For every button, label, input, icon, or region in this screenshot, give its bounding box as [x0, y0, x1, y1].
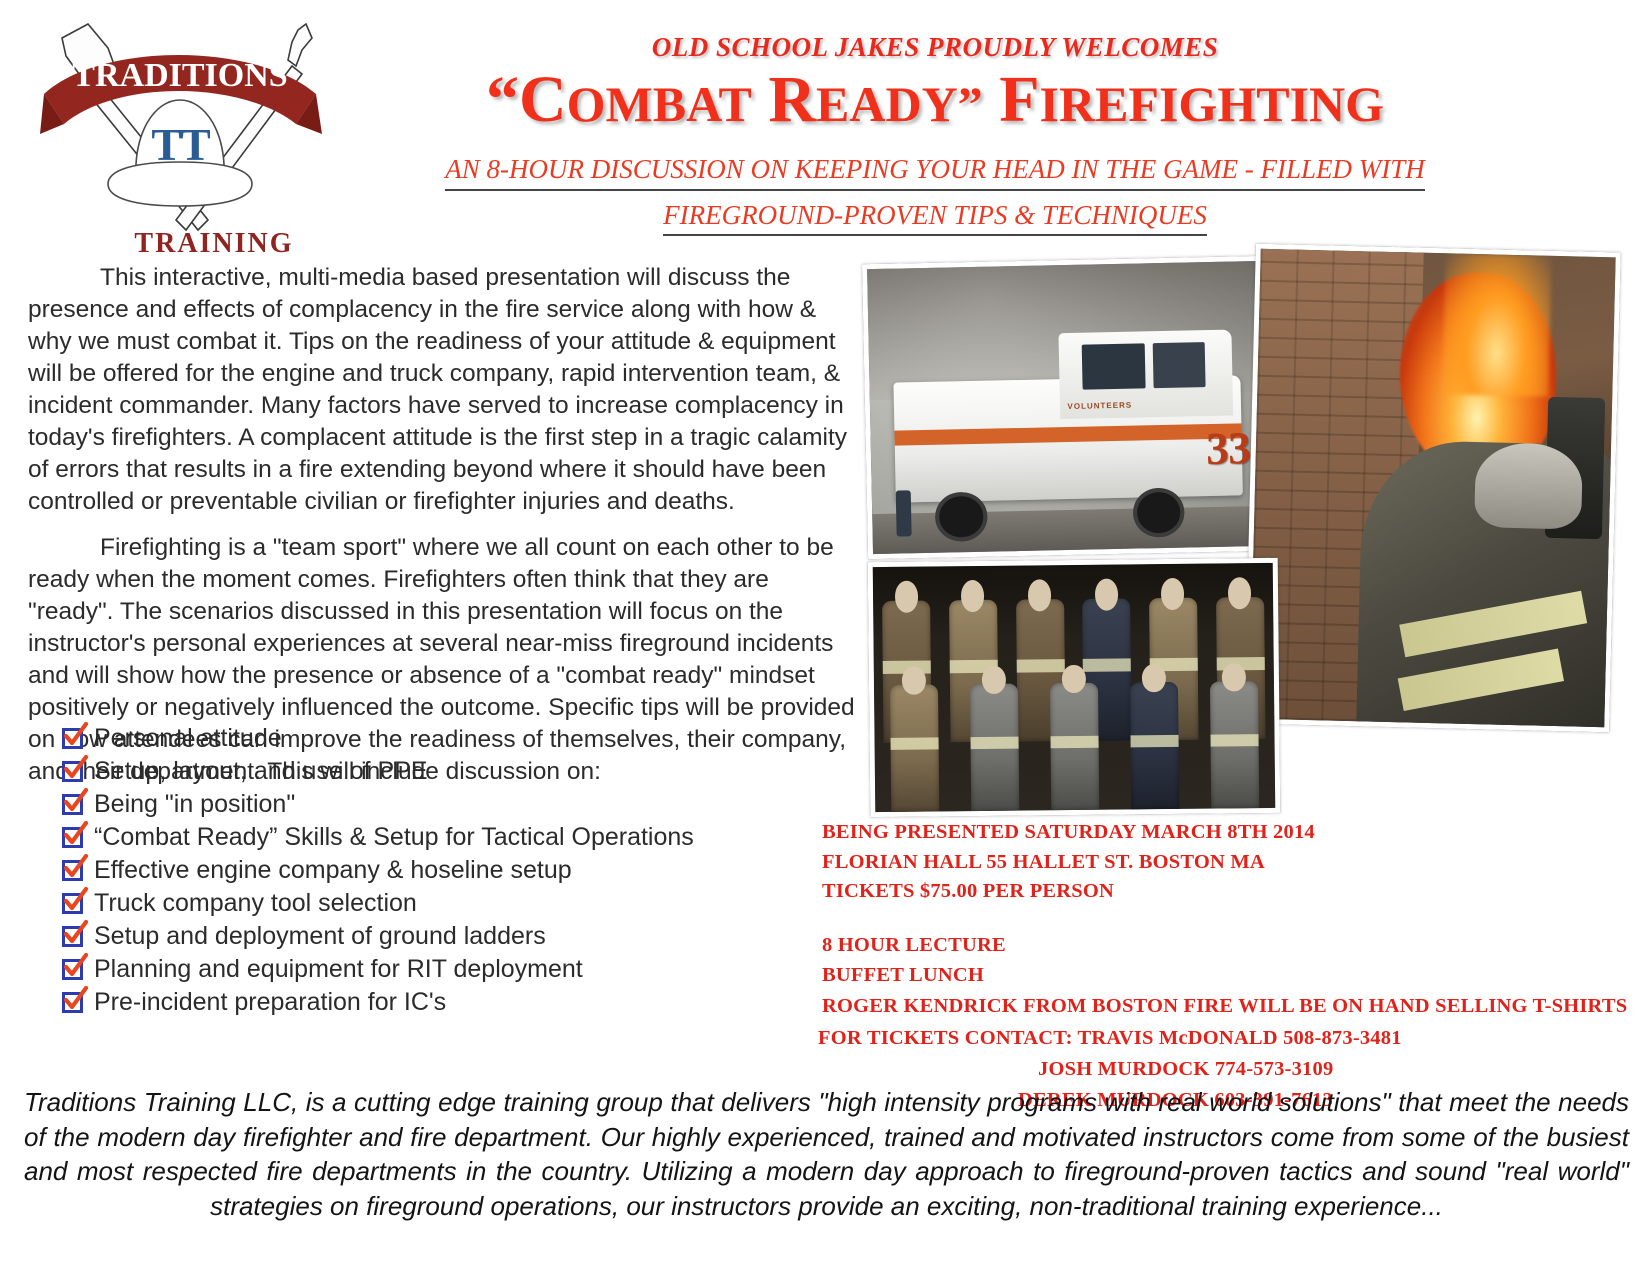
title-space-1 — [752, 63, 769, 136]
checkbox-checked-icon — [62, 926, 83, 947]
description-paragraph-1: This interactive, multi-media based pres… — [28, 262, 858, 518]
topics-checklist: Personal attitudeSetup, layout, and use … — [62, 722, 882, 1019]
checkbox-checked-icon — [62, 992, 83, 1013]
checklist-item: Personal attitude — [62, 722, 882, 755]
fire-engine-photo: VOLUNTEERS 33 — [862, 256, 1273, 559]
checkbox-checked-icon — [62, 761, 83, 782]
lecture-tshirt-line: ROGER KENDRICK FROM BOSTON FIRE WILL BE … — [822, 991, 1642, 1021]
firefighter-crew-group-photo — [868, 558, 1281, 817]
title-seg-1: “C — [486, 63, 567, 136]
crew-member — [1210, 681, 1259, 809]
firefighter-silhouette — [895, 491, 912, 537]
firefighter-helmet — [1474, 442, 1583, 529]
checkbox-checked-icon — [62, 728, 83, 749]
checklist-item-label: Effective engine company & hoseline setu… — [94, 858, 572, 883]
checkbox-checked-icon — [62, 893, 83, 914]
checklist-item: Pre-incident preparation for IC's — [62, 986, 882, 1019]
checklist-item: Setup, layout, and use of PPE — [62, 755, 882, 788]
event-date-line: BEING PRESENTED SATURDAY MARCH 8TH 2014 — [822, 818, 1622, 848]
checklist-item-label: Pre-incident preparation for IC's — [94, 990, 446, 1015]
header-subtitle-line-1: AN 8-HOUR DISCUSSION ON KEEPING YOUR HEA… — [330, 145, 1540, 191]
cab-window-front — [1082, 343, 1146, 390]
header-subtitle-line-2: FIREGROUND-PROVEN TIPS & TECHNIQUES — [330, 191, 1540, 237]
flyer-header: OLD SCHOOL JAKES PROUDLY WELCOMES “COMBA… — [330, 32, 1540, 236]
crew-member — [1050, 682, 1099, 810]
checklist-item-label: Being "in position" — [94, 792, 295, 817]
checklist-item-label: Planning and equipment for RIT deploymen… — [94, 957, 583, 982]
traditions-training-logo: TRADITIONS TT TRAINING — [30, 8, 330, 258]
company-blurb-text: Traditions Training LLC, is a cutting ed… — [24, 1085, 1629, 1223]
checklist-item: “Combat Ready” Skills & Setup for Tactic… — [62, 821, 882, 854]
lecture-duration-line: 8 HOUR LECTURE — [822, 930, 1642, 960]
lecture-lunch-line: BUFFET LUNCH — [822, 960, 1642, 990]
checklist-item: Planning and equipment for RIT deploymen… — [62, 953, 882, 986]
engine-wheel-front — [935, 492, 987, 542]
title-space-2 — [983, 63, 1000, 136]
checklist-item-label: Truck company tool selection — [94, 891, 417, 916]
interior-fire-attack-photo — [1244, 244, 1621, 733]
engine-wheel-rear — [1132, 488, 1184, 538]
checklist-item-label: “Combat Ready” Skills & Setup for Tactic… — [94, 825, 694, 850]
page-title: “COMBAT READY” FIREFIGHTING — [330, 67, 1540, 133]
logo-bottom-text: TRAINING — [134, 228, 293, 258]
logo-banner-text: TRADITIONS — [72, 57, 287, 94]
checkbox-checked-icon — [62, 827, 83, 848]
checklist-item: Being "in position" — [62, 788, 882, 821]
checklist-item-label: Personal attitude — [94, 726, 282, 751]
title-seg-4: EADY” — [816, 76, 983, 132]
crew-member — [890, 684, 939, 812]
description-column: This interactive, multi-media based pres… — [28, 262, 858, 802]
checkbox-checked-icon — [62, 959, 83, 980]
road-surface — [872, 506, 1268, 554]
subtitle-text-2: FIREGROUND-PROVEN TIPS & TECHNIQUES — [663, 198, 1207, 237]
photo-collage: VOLUNTEERS 33 — [855, 248, 1625, 818]
logo-artwork-icon: TRADITIONS TT TRAINING — [30, 8, 330, 258]
flame-small — [1442, 253, 1552, 397]
checkbox-checked-icon — [62, 794, 83, 815]
checklist-item: Setup and deployment of ground ladders — [62, 920, 882, 953]
title-seg-5: F — [999, 63, 1039, 136]
subtitle-text-1: AN 8-HOUR DISCUSSION ON KEEPING YOUR HEA… — [445, 152, 1424, 191]
checklist-item-label: Setup and deployment of ground ladders — [94, 924, 546, 949]
engine-lettering: VOLUNTEERS — [1067, 400, 1132, 410]
event-venue-line: FLORIAN HALL 55 HALLET ST. BOSTON MA — [822, 848, 1622, 878]
lecture-details: 8 HOUR LECTURE BUFFET LUNCH ROGER KENDRI… — [822, 930, 1642, 1021]
title-seg-2: OMBAT — [567, 76, 752, 132]
checklist-item: Truck company tool selection — [62, 887, 882, 920]
cab-window-side — [1153, 342, 1205, 389]
header-subtitle-block: AN 8-HOUR DISCUSSION ON KEEPING YOUR HEA… — [330, 145, 1540, 236]
checklist-item: Effective engine company & hoseline setu… — [62, 854, 882, 887]
checkbox-checked-icon — [62, 860, 83, 881]
crew-member — [1130, 682, 1179, 810]
contact-line-1: FOR TICKETS CONTACT: TRAVIS McDONALD 508… — [818, 1023, 1648, 1054]
company-blurb: Traditions Training LLC, is a cutting ed… — [24, 1085, 1629, 1223]
event-details: BEING PRESENTED SATURDAY MARCH 8TH 2014 … — [822, 818, 1622, 907]
engine-number: 33 — [1206, 421, 1251, 475]
title-seg-3: R — [768, 63, 816, 136]
checklist-item-label: Setup, layout, and use of PPE — [94, 759, 428, 784]
event-price-line: TICKETS $75.00 PER PERSON — [822, 877, 1622, 907]
logo-monogram: TT — [151, 119, 210, 170]
crew-member — [970, 683, 1019, 811]
contact-line-2: JOSH MURDOCK 774-573-3109 — [818, 1054, 1648, 1085]
header-kicker: OLD SCHOOL JAKES PROUDLY WELCOMES — [330, 32, 1540, 63]
crew-front-row — [874, 680, 1275, 812]
title-seg-6: IREFIGHTING — [1040, 76, 1385, 132]
